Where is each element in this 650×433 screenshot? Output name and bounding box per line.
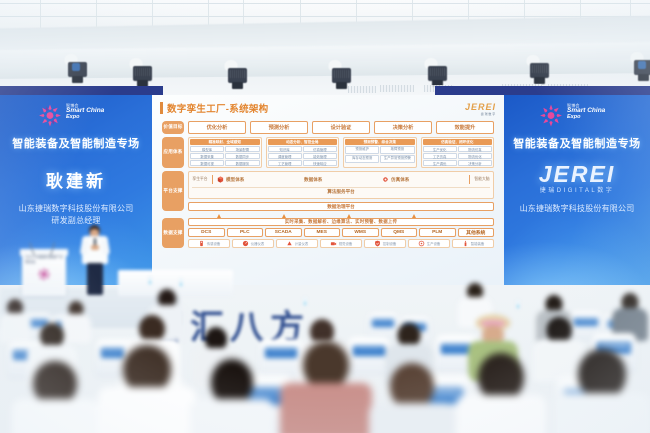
row-label-application: 应用体系 xyxy=(162,137,184,168)
app-cell: 快速响应 xyxy=(303,160,337,166)
hall-ceiling xyxy=(0,0,650,96)
audience-person xyxy=(560,349,644,433)
app-cell: 能效管理 xyxy=(303,153,337,159)
system-cell-plc: PLC xyxy=(227,228,264,237)
expo-cn-name: 智博会 xyxy=(66,104,104,108)
architecture-diagram: 价值目标 优化分析 预测分析 设计验证 决策分析 效能提升 应用体系 xyxy=(162,121,494,277)
goal-cell: 优化分析 xyxy=(188,121,246,134)
app-cell: 工艺管理 xyxy=(268,160,302,166)
device-cell: 视觉设备 xyxy=(320,239,362,248)
goal-cell: 决策分析 xyxy=(374,121,432,134)
presentation-slide: 数字孪生工厂-系统架构 JEREI 捷瑞数字 价值目标 优化分析 预测分析 设计… xyxy=(152,95,504,285)
session-title-right: 智能装备及智能制造专场 xyxy=(504,135,650,151)
app-cell: 模型库 xyxy=(190,146,224,152)
row-label-value-goals: 价值目标 xyxy=(162,121,184,134)
app-cell: 数据采集 xyxy=(190,153,224,159)
app-cell: 物流优化 xyxy=(458,153,492,159)
system-cell-plm: PLM xyxy=(419,228,456,237)
system-cell-wms: WMS xyxy=(342,228,379,237)
session-title-left: 智能装备及智能制造专场 xyxy=(0,135,152,151)
system-cell-mes: MES xyxy=(304,228,341,237)
company-name-right: 山东捷瑞数字科技股份有限公司 xyxy=(504,203,650,215)
expo-wordmark: 智博会 Smart China Expo xyxy=(66,104,104,121)
goal-cell: 设计验证 xyxy=(312,121,370,134)
app-cell: 调度管理 xyxy=(268,153,302,159)
org-name: 山东捷瑞数字科技股份有限公司 xyxy=(0,203,152,215)
platform-item-data: 数据体系 xyxy=(304,177,322,183)
device-cell: 控制设备 xyxy=(364,239,406,248)
app-cell: 生产优化 xyxy=(423,146,457,152)
stage-light xyxy=(68,54,87,84)
app-cell: 生产异常预测预警 xyxy=(380,155,414,163)
app-group: 动态分析、智控全局 知识库 仿真管理 调度管理 能效管理 工艺管理 快速响应 xyxy=(266,137,340,168)
platform-left-label: 孪生平台 xyxy=(192,177,208,182)
audience-person xyxy=(18,361,92,433)
expo-en-suffix: Expo xyxy=(567,115,605,121)
device-cell: 传感设备 xyxy=(188,239,230,248)
system-cell-other: 其他系统 xyxy=(458,228,495,237)
shield-control-icon xyxy=(374,240,381,247)
slide-title: 数字孪生工厂-系统架构 xyxy=(167,101,268,115)
device-cell: 生产设备 xyxy=(408,239,450,248)
system-cell-qms: QMS xyxy=(381,228,418,237)
row-label-platform: 平台支撑 xyxy=(162,171,184,211)
audience-person xyxy=(374,363,450,433)
diagram-row-platform: 平台支撑 孪生平台 xyxy=(162,171,494,211)
goal-cell: 效能提升 xyxy=(436,121,494,134)
data-governance-bar: 数据治理平台 xyxy=(188,202,494,211)
app-cell: 知识库 xyxy=(268,146,302,152)
diagram-row-data: 数据支撑 实时采集、数据解析、边缘算法、实时预警、数据上传 DCS PLC SC… xyxy=(162,218,494,248)
app-group-head: 仿真验证、闭环优化 xyxy=(423,139,493,145)
app-cell: 库存动态预测 xyxy=(345,155,379,163)
app-cell: 场景配置 xyxy=(225,146,259,152)
slide-brand-name: JEREI xyxy=(465,102,496,112)
org-role: 研发副总经理 xyxy=(0,215,152,227)
system-cell-scada: SCADA xyxy=(265,228,302,237)
device-cell: 仪器仪表 xyxy=(232,239,274,248)
app-group-head: 动态分析、智控全局 xyxy=(268,139,338,145)
app-cell: 工艺仿真 xyxy=(423,153,457,159)
app-group: 预测预警、综合决策 预测维护 故障预测 库存动态预测 生产异常预测预警 xyxy=(343,137,417,168)
slide-brand-sub: 捷瑞数字 xyxy=(465,112,496,116)
app-group-head: 精准映射、全域感知 xyxy=(190,139,260,145)
stage-light xyxy=(428,58,447,88)
app-cell: 数据服务 xyxy=(225,160,259,166)
cube-icon xyxy=(217,176,224,183)
production-machine-icon xyxy=(418,240,425,247)
audience-person xyxy=(286,341,366,433)
smart-china-expo-logo: 智博会 Smart China Expo xyxy=(538,103,616,129)
podium-text: 2023 中国国际智能产业博览会 xyxy=(25,254,66,264)
gear-icon xyxy=(382,176,389,183)
instrument-gauge-icon xyxy=(242,240,249,247)
slide-brand-logo: JEREI 捷瑞数字 xyxy=(465,102,496,116)
device-row: 传感设备 仪器仪表 计量仪表 xyxy=(188,239,494,248)
stage-light xyxy=(634,52,650,82)
smart-equipment-icon xyxy=(462,240,469,247)
system-cell-dcs: DCS xyxy=(188,228,225,237)
app-cell: 故障预测 xyxy=(380,146,414,154)
audience-area xyxy=(0,283,650,433)
podium-expo-icon xyxy=(34,266,54,284)
app-cell: 数据同步 xyxy=(225,153,259,159)
stage-light xyxy=(133,58,152,88)
system-row: DCS PLC SCADA MES WMS QMS PLM 其他系统 xyxy=(188,228,494,237)
smart-china-expo-logo: 智博会 Smart China Expo xyxy=(37,103,115,129)
platform-right-label: 智能大脑 xyxy=(474,177,490,182)
app-cell: 物流仿真 xyxy=(458,146,492,152)
app-group-head: 预测预警、综合决策 xyxy=(345,139,415,145)
jerei-brand-sub: 捷瑞DIGITAL数字 xyxy=(504,185,650,194)
led-panel-right: 智博会 Smart China Expo 智能装备及智能制造专场 JEREI 捷… xyxy=(504,95,650,285)
expo-en-suffix: Expo xyxy=(66,115,104,121)
stage-light xyxy=(530,55,549,85)
platform-box: 孪生平台 模型体系 xyxy=(188,171,494,199)
jerei-brand: JEREI xyxy=(504,161,650,188)
expo-cn-name: 智博会 xyxy=(567,104,605,108)
device-cell: 智能装备 xyxy=(452,239,494,248)
app-cell: 生产调优 xyxy=(423,160,457,166)
diagram-row-application: 应用体系 精准映射、全域感知 模型库 场景配置 数据采集 数据同步 数据可视 数 xyxy=(162,137,494,168)
audience-person xyxy=(0,299,30,343)
platform-algorithm-bar: 算法服务平台 xyxy=(192,187,490,196)
stage-light xyxy=(228,60,247,90)
diagram-row-value-goals: 价值目标 优化分析 预测分析 设计验证 决策分析 效能提升 xyxy=(162,121,494,134)
app-group: 精准映射、全域感知 模型库 场景配置 数据采集 数据同步 数据可视 数据服务 xyxy=(188,137,262,168)
app-cell: 决策分析 xyxy=(458,160,492,166)
app-cell: 数据可视 xyxy=(190,160,224,166)
speaker-organization: 山东捷瑞数字科技股份有限公司 研发副总经理 xyxy=(0,203,152,226)
slide-title-accent xyxy=(160,102,163,114)
platform-item-model: 模型体系 xyxy=(217,176,244,183)
speaker-name: 耿建新 xyxy=(0,167,152,192)
screenshot-root: 智博会 Smart China Expo 智能装备及智能制造专场 耿建新 山东捷… xyxy=(0,0,650,433)
audience-person xyxy=(462,353,540,433)
data-capability-bar: 实时采集、数据解析、边缘算法、实时预警、数据上传 xyxy=(188,218,494,226)
app-cell: 预测维护 xyxy=(345,146,379,154)
app-group: 仿真验证、闭环优化 生产优化 物流仿真 工艺仿真 物流优化 生产调优 决策分析 xyxy=(421,137,495,168)
expo-burst-icon xyxy=(37,103,63,128)
goal-cell: 预测分析 xyxy=(250,121,308,134)
audience-person xyxy=(104,345,190,433)
app-cell: 仿真管理 xyxy=(303,146,337,152)
audience-person xyxy=(196,359,268,433)
expo-wordmark: 智博会 Smart China Expo xyxy=(567,104,605,121)
camera-icon xyxy=(330,240,337,247)
platform-item-simulation: 仿真体系 xyxy=(382,176,409,183)
sensor-icon xyxy=(198,240,205,247)
device-cell: 计量仪表 xyxy=(276,239,318,248)
meter-icon xyxy=(286,240,293,247)
row-label-data: 数据支撑 xyxy=(162,218,184,248)
expo-burst-icon xyxy=(538,103,564,128)
